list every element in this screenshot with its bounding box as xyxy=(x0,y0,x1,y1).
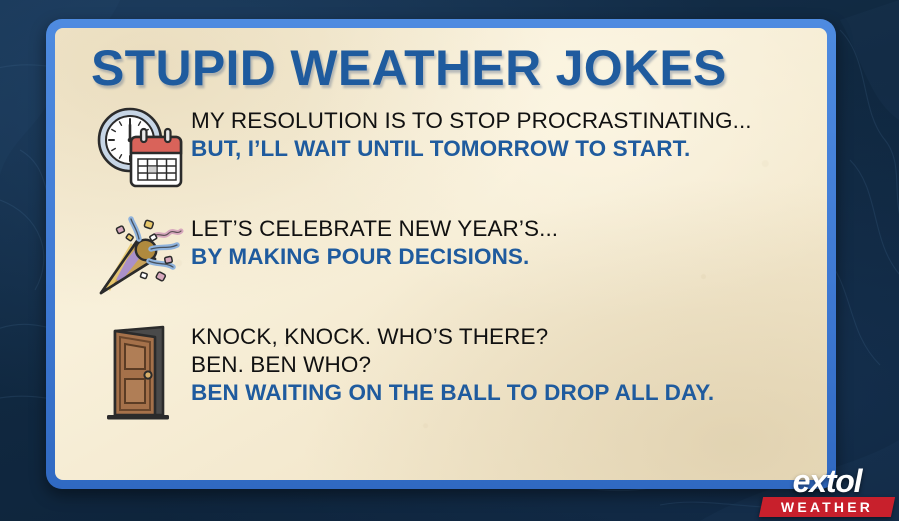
logo-banner: WEATHER xyxy=(759,497,895,517)
logo-wordmark: extol xyxy=(761,467,893,496)
joke-punchline: BY MAKING POUR DECISIONS. xyxy=(191,243,558,271)
page-title: STUPID WEATHER JOKES xyxy=(81,28,801,99)
broadcast-graphic: STUPID WEATHER JOKES xyxy=(0,0,899,521)
joke-icon-cell xyxy=(87,213,191,301)
party-popper-icon xyxy=(93,215,185,301)
joke-text: KNOCK, KNOCK. WHO’S THERE? BEN. BEN WHO?… xyxy=(191,321,714,408)
logo-banner-label: WEATHER xyxy=(761,500,893,514)
joke-text: LET’S CELEBRATE NEW YEAR’S... BY MAKING … xyxy=(191,213,558,272)
joke-icon-cell xyxy=(87,321,191,423)
joke-setup-line: BEN. BEN WHO? xyxy=(191,351,714,379)
joke-item: KNOCK, KNOCK. WHO’S THERE? BEN. BEN WHO?… xyxy=(87,321,801,423)
joke-punchline: BEN WAITING ON THE BALL TO DROP ALL DAY. xyxy=(191,379,714,407)
joke-setup-line: MY RESOLUTION IS TO STOP PROCRASTINATING… xyxy=(191,107,752,135)
joke-item: MY RESOLUTION IS TO STOP PROCRASTINATING… xyxy=(87,105,801,191)
joke-text: MY RESOLUTION IS TO STOP PROCRASTINATING… xyxy=(191,105,752,164)
joke-item: LET’S CELEBRATE NEW YEAR’S... BY MAKING … xyxy=(87,213,801,301)
joke-setup-line: KNOCK, KNOCK. WHO’S THERE? xyxy=(191,323,714,351)
station-logo: extol WEATHER xyxy=(761,467,893,517)
clock-calendar-icon xyxy=(93,105,185,191)
parchment-panel: STUPID WEATHER JOKES xyxy=(55,28,827,480)
door-icon xyxy=(99,323,179,423)
joke-setup-line: LET’S CELEBRATE NEW YEAR’S... xyxy=(191,215,558,243)
joke-icon-cell xyxy=(87,105,191,191)
joke-list: MY RESOLUTION IS TO STOP PROCRASTINATING… xyxy=(81,99,801,423)
panel-frame: STUPID WEATHER JOKES xyxy=(46,19,836,489)
joke-punchline: BUT, I’LL WAIT UNTIL TOMORROW TO START. xyxy=(191,135,752,163)
